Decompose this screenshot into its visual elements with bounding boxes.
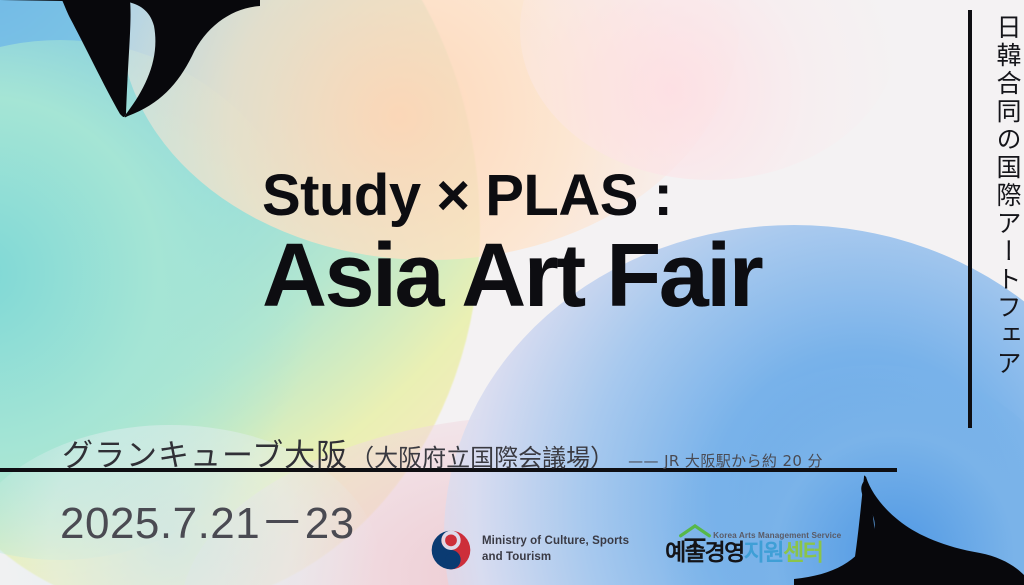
venue-name: グランキューブ大阪 xyxy=(62,430,348,475)
decorative-spike-top-left-icon xyxy=(0,0,260,130)
mcst-logo-text-line1: Ministry of Culture, Sports xyxy=(482,534,629,550)
poster-canvas: Study × PLAS : Asia Art Fair 日韓合同の国際アートフ… xyxy=(0,0,1024,585)
logo-korea-arts-management-service: Korea Arts Management Service 예술경영지원센터 xyxy=(665,524,837,576)
title-line-main: Asia Art Fair xyxy=(262,231,922,323)
page-title: Study × PLAS : Asia Art Fair xyxy=(262,166,922,323)
venue-info: グランキューブ大阪 （大阪府立国際会議場） —— JR 大阪駅から約 20 分 xyxy=(62,430,823,475)
mcst-logo-text-line2: and Tourism xyxy=(482,550,629,566)
venue-official-name: （大阪府立国際会議場） xyxy=(350,438,614,473)
event-date: 2025.7.21－23 xyxy=(60,487,355,551)
vertical-divider-rule xyxy=(968,10,972,428)
logo-ministry-of-culture-sports-tourism: Ministry of Culture, Sports and Tourism xyxy=(430,529,629,571)
kams-korean-part-1: 예술 xyxy=(665,540,704,566)
kams-logo-korean: 예술경영지원센터 xyxy=(665,542,822,565)
mcst-logo-text: Ministry of Culture, Sports and Tourism xyxy=(482,534,629,565)
kams-korean-part-3: 지원 xyxy=(744,540,783,566)
kams-logo-english: Korea Arts Management Service xyxy=(713,531,841,540)
vertical-tagline: 日韓合同の国際アートフェア xyxy=(980,14,1020,424)
kams-korean-part-4: 센터 xyxy=(783,540,822,566)
taegeuk-icon xyxy=(430,529,472,571)
kams-korean-part-2: 경영 xyxy=(704,540,743,566)
title-line-subtitle: Study × PLAS : xyxy=(262,166,922,227)
sponsor-logos: Ministry of Culture, Sports and Tourism … xyxy=(430,524,837,576)
venue-access-note: —— JR 大阪駅から約 20 分 xyxy=(628,450,823,471)
